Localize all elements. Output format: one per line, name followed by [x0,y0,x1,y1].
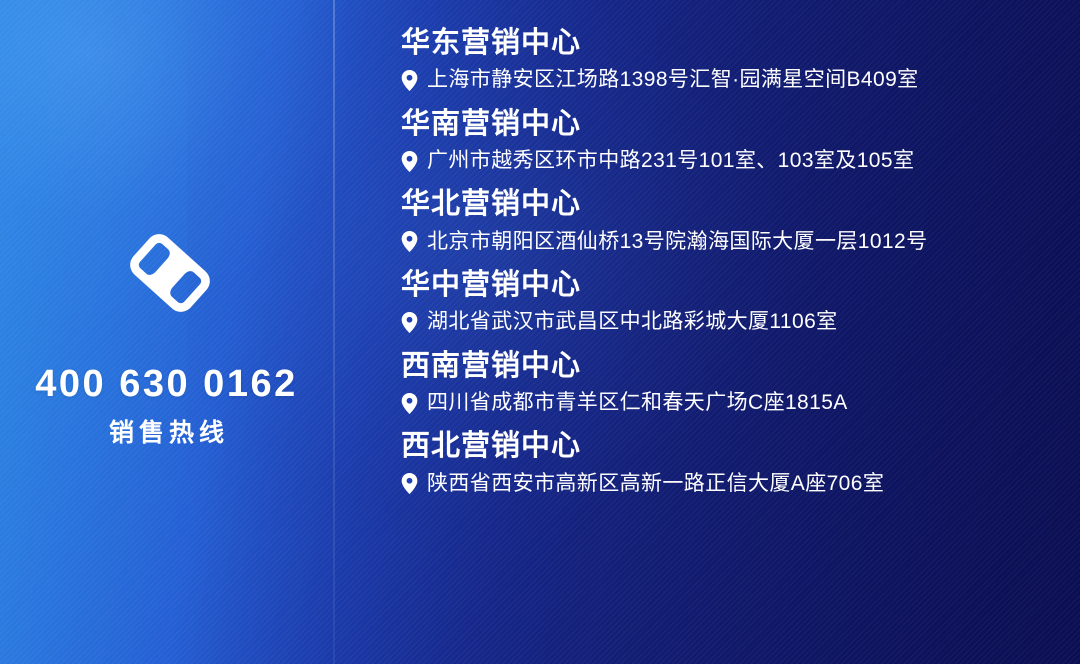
office-item: 华南营销中心 广州市越秀区环市中路231号101室、103室及105室 [401,107,1080,175]
office-address: 陕西省西安市高新区高新一路正信大厦A座706室 [427,471,884,497]
hotline-panel: 400 630 0162 销售热线 [0,0,333,664]
office-name: 西南营销中心 [401,349,1080,384]
location-pin-icon [401,151,418,172]
office-item: 西南营销中心 四川省成都市青羊区仁和春天广场C座1815A [401,349,1080,417]
office-name: 华北营销中心 [401,187,1080,222]
office-address-row: 四川省成都市青羊区仁和春天广场C座1815A [401,390,1080,416]
office-address-row: 北京市朝阳区酒仙桥13号院瀚海国际大厦一层1012号 [401,229,1080,255]
contact-banner: 400 630 0162 销售热线 华东营销中心 上海市静安区江场路1398号汇… [0,0,1080,664]
phone-handset-icon [122,225,218,321]
office-item: 华中营销中心 湖北省武汉市武昌区中北路彩城大厦1106室 [401,268,1080,336]
office-name: 华东营销中心 [401,26,1080,61]
location-pin-icon [401,312,418,333]
office-address: 上海市静安区江场路1398号汇智·园满星空间B409室 [427,67,919,93]
offices-panel: 华东营销中心 上海市静安区江场路1398号汇智·园满星空间B409室 华南营销中… [333,0,1080,664]
location-pin-icon [401,393,418,414]
office-address-row: 广州市越秀区环市中路231号101室、103室及105室 [401,148,1080,174]
office-address-row: 上海市静安区江场路1398号汇智·园满星空间B409室 [401,67,1080,93]
office-item: 西北营销中心 陕西省西安市高新区高新一路正信大厦A座706室 [401,429,1080,497]
office-name: 华中营销中心 [401,268,1080,303]
office-address: 四川省成都市青羊区仁和春天广场C座1815A [427,390,848,416]
office-address-row: 湖北省武汉市武昌区中北路彩城大厦1106室 [401,309,1080,335]
office-address: 广州市越秀区环市中路231号101室、103室及105室 [427,148,914,174]
office-name: 西北营销中心 [401,429,1080,464]
office-item: 华北营销中心 北京市朝阳区酒仙桥13号院瀚海国际大厦一层1012号 [401,187,1080,255]
office-item: 华东营销中心 上海市静安区江场路1398号汇智·园满星空间B409室 [401,26,1080,94]
location-pin-icon [401,473,418,494]
office-name: 华南营销中心 [401,107,1080,142]
office-address-row: 陕西省西安市高新区高新一路正信大厦A座706室 [401,471,1080,497]
hotline-number: 400 630 0162 [35,365,297,403]
location-pin-icon [401,70,418,91]
office-address: 湖北省武汉市武昌区中北路彩城大厦1106室 [427,309,838,335]
hotline-label: 销售热线 [104,421,229,446]
location-pin-icon [401,231,418,252]
office-address: 北京市朝阳区酒仙桥13号院瀚海国际大厦一层1012号 [427,229,927,255]
